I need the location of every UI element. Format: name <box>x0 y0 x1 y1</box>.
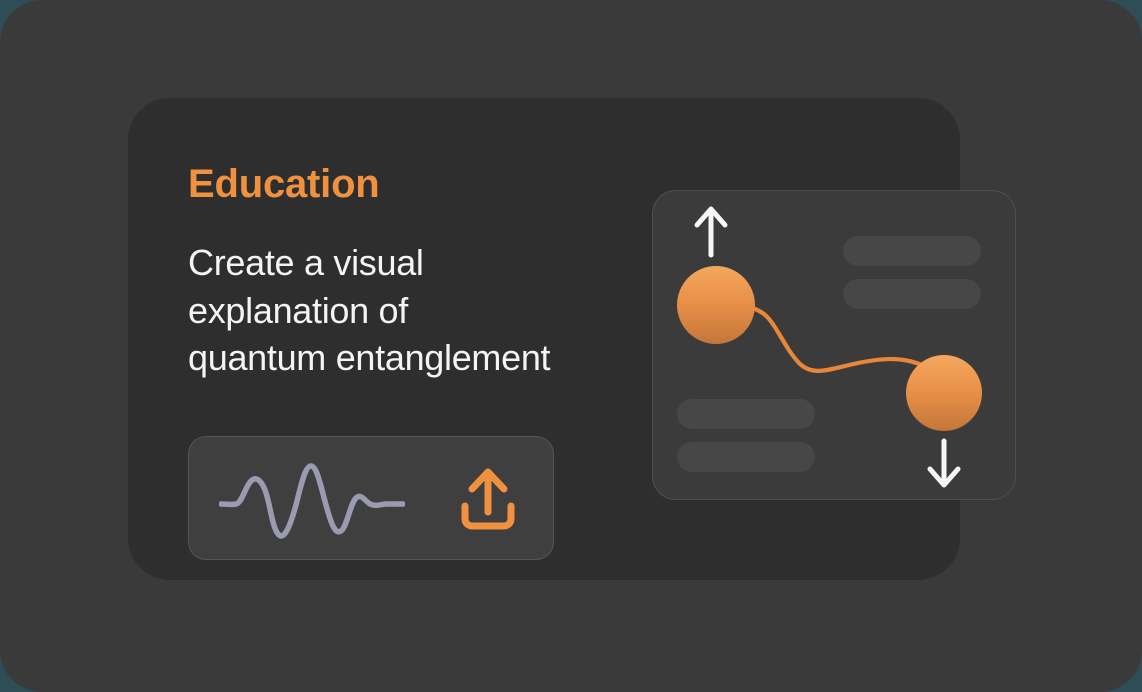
arrow-down-icon <box>930 441 958 485</box>
screenshot-stage: Education Create a visual explanation of… <box>0 0 1142 692</box>
placeholder-bar-bottom-1 <box>677 399 815 429</box>
placeholder-bar-top-2 <box>843 279 981 309</box>
upload-icon[interactable] <box>455 462 527 534</box>
placeholder-bar-bottom-2 <box>677 442 815 472</box>
entangled-particle-a[interactable] <box>677 266 755 344</box>
audio-upload-button[interactable] <box>188 436 554 560</box>
prompt-text-block: Education Create a visual explanation of… <box>188 163 638 382</box>
prompt-headline: Create a visual explanation of quantum e… <box>188 239 638 382</box>
entangled-particle-b[interactable] <box>906 355 982 431</box>
category-label: Education <box>188 163 638 205</box>
diagram-canvas <box>653 191 1016 500</box>
arrow-up-icon <box>697 209 725 255</box>
quantum-entanglement-diagram[interactable] <box>652 190 1016 500</box>
placeholder-bar-top-1 <box>843 236 981 266</box>
audio-waveform-icon <box>219 457 405 539</box>
